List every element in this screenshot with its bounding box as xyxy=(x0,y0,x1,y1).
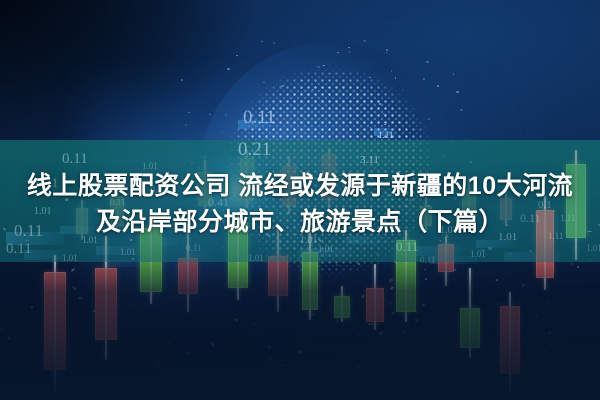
cover-image: 0.110.211.113.110.110.111.010.110.111.01… xyxy=(0,0,600,400)
title-line-1: 线上股票配资公司 流经或发源于新疆的10大河流 xyxy=(0,168,600,204)
page-title: 线上股票配资公司 流经或发源于新疆的10大河流 及沿岸部分城市、旅游景点（下篇） xyxy=(0,168,600,240)
title-line-2: 及沿岸部分城市、旅游景点（下篇） xyxy=(0,204,600,240)
